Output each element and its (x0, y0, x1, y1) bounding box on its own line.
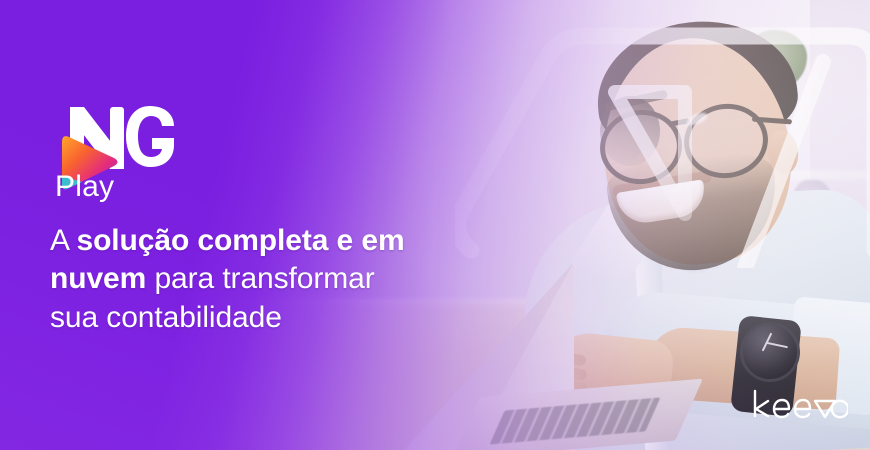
ng-play-logo-wordmark: Play (55, 172, 114, 202)
headline-line-3: sua contabilidade (50, 299, 450, 337)
headline-line-2-plain: para transformar (146, 262, 374, 295)
headline: A solução completa e em nuvem para trans… (50, 222, 450, 337)
headline-line-2: nuvem para transformar (50, 260, 450, 298)
headline-line-1-bold: solução completa e em (77, 224, 405, 257)
headline-line-1: A solução completa e em (50, 222, 450, 260)
headline-line-2-bold: nuvem (50, 262, 146, 295)
keevo-logo[interactable] (752, 388, 848, 422)
headline-line-3-plain: sua contabilidade (50, 301, 282, 334)
promo-banner: Play A solução completa e em nuvem para … (0, 0, 870, 450)
headline-line-1-plain: A (50, 224, 77, 257)
